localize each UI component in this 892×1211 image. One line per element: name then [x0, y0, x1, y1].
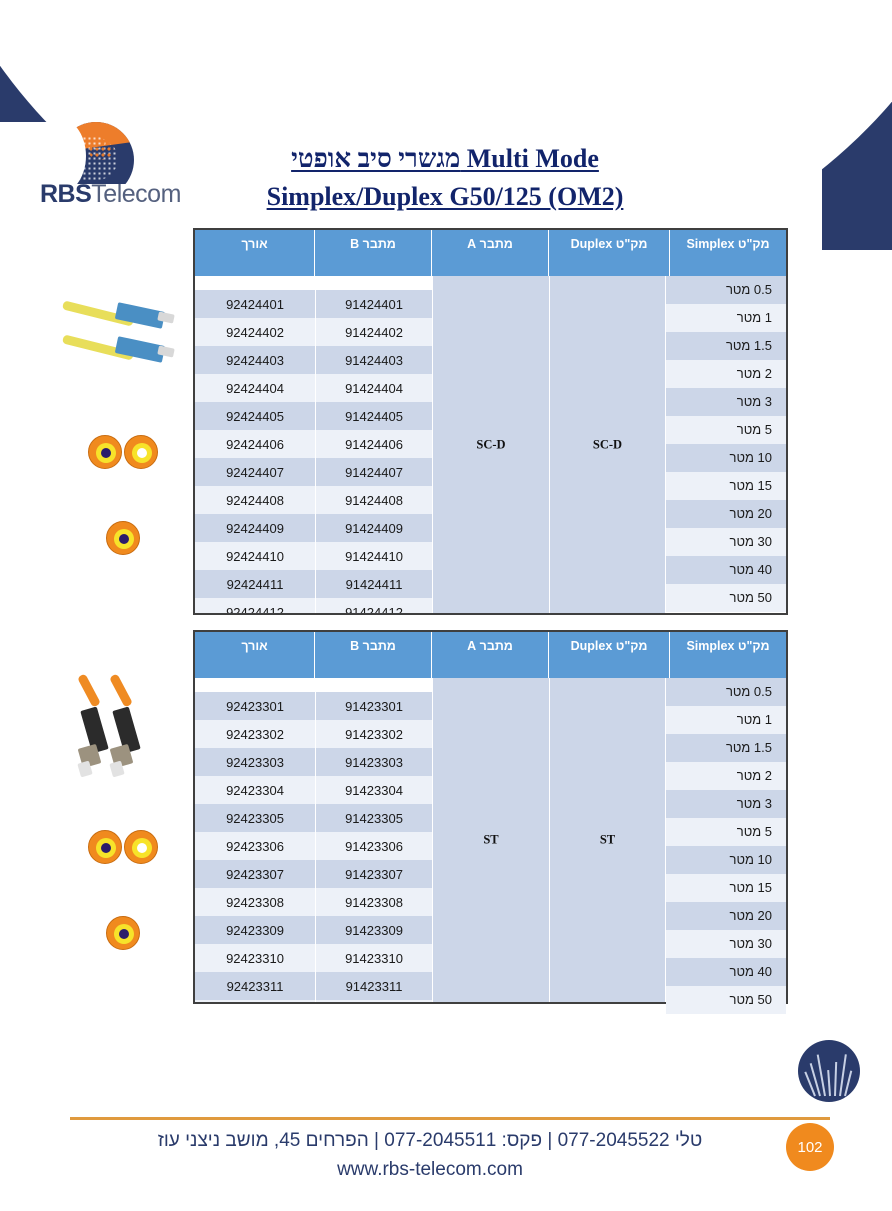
- product-photo-sc-duplex: [58, 295, 188, 555]
- table-row: 9242331291423312: [195, 1000, 432, 1002]
- length-cell: 1.5 מטר: [666, 734, 786, 762]
- logo-wordmark: RBSTelecom: [40, 180, 200, 209]
- simplex-part-number: 91423306: [316, 832, 432, 860]
- connector-a-value: ST: [433, 833, 549, 848]
- length-cell: 2 מטר: [666, 762, 786, 790]
- fiber-strands-icon: [798, 1040, 860, 1102]
- simplex-part-number: 91423311: [316, 972, 432, 1000]
- length-cell: 10 מטר: [666, 444, 786, 472]
- footer-contact-line: טלי 077-2045522 | פקס: 077-2045511 | הפר…: [40, 1126, 820, 1155]
- simplex-part-number: 91423301: [316, 692, 432, 720]
- simplex-part-number: 91424408: [316, 486, 432, 514]
- simplex-part-number: 91424409: [316, 514, 432, 542]
- duplex-part-number: 92424412: [195, 598, 316, 613]
- length-cell: 40 מטר: [666, 556, 786, 584]
- duplex-part-number: 92424403: [195, 346, 316, 374]
- length-cell: 3 מטר: [666, 790, 786, 818]
- length-cell: 2 מטר: [666, 360, 786, 388]
- length-cell: 50 מטר: [666, 986, 786, 1014]
- product-photo-st-duplex: [58, 690, 188, 950]
- duplex-part-number: 92424411: [195, 570, 316, 598]
- simplex-part-number: 91424404: [316, 374, 432, 402]
- length-cell: 0.5 מטר: [666, 276, 786, 304]
- simplex-part-number: 91423309: [316, 916, 432, 944]
- duplex-part-number: 92423302: [195, 720, 316, 748]
- length-cell: 3 מטר: [666, 388, 786, 416]
- length-column: 0.5 מטר1 מטר1.5 מטר2 מטר3 מטר5 מטר10 מטר…: [666, 678, 786, 1014]
- length-column: 0.5 מטר1 מטר1.5 מטר2 מטר3 מטר5 מטר10 מטר…: [666, 276, 786, 612]
- length-cell: 15 מטר: [666, 472, 786, 500]
- table-body: 0.5 מטר1 מטר1.5 מטר2 מטר3 מטר5 מטר10 מטר…: [195, 276, 786, 613]
- duplex-part-number: 92423306: [195, 832, 316, 860]
- connector-b-column: ST: [549, 678, 666, 1002]
- table-row: 9242440991424409: [195, 514, 432, 542]
- page-title-line2: Simplex/Duplex G50/125 (OM2): [230, 178, 660, 216]
- simplex-part-number: 91424402: [316, 318, 432, 346]
- part-number-columns: 9242440191424401924244029142440292424403…: [195, 276, 432, 613]
- simplex-part-number: 91424405: [316, 402, 432, 430]
- simplex-part-number: 91423308: [316, 888, 432, 916]
- column-header-connector-b: מתבר B: [315, 230, 432, 276]
- duplex-part-number: 92423304: [195, 776, 316, 804]
- column-header-connector-b: מתבר B: [315, 632, 432, 678]
- table-row: 9242330691423306: [195, 832, 432, 860]
- duplex-part-number: 92423308: [195, 888, 316, 916]
- duplex-part-number: 92423310: [195, 944, 316, 972]
- table-row: 9242440191424401: [195, 290, 432, 318]
- connector-a-column: ST: [432, 678, 549, 1002]
- length-cell: 20 מטר: [666, 500, 786, 528]
- length-cell: 40 מטר: [666, 958, 786, 986]
- duplex-part-number: 92424401: [195, 290, 316, 318]
- simplex-part-number: 91424412: [316, 598, 432, 613]
- column-header-simplex: מק"ט Simplex: [670, 230, 786, 276]
- connector-b-value: SC-D: [550, 437, 665, 452]
- table-row: 9242441091424410: [195, 542, 432, 570]
- footer-website[interactable]: www.rbs-telecom.com: [40, 1155, 820, 1184]
- column-header-length: אורך: [195, 230, 315, 276]
- length-cell: 30 מטר: [666, 528, 786, 556]
- table-row: 9242330291423302: [195, 720, 432, 748]
- duplex-part-number: 92423312: [195, 1000, 316, 1002]
- simplex-part-number: 91423302: [316, 720, 432, 748]
- duplex-part-number: 92424404: [195, 374, 316, 402]
- simplex-part-number: 91424411: [316, 570, 432, 598]
- length-cell: 15 מטר: [666, 874, 786, 902]
- table-row: 9242440891424408: [195, 486, 432, 514]
- table-row: 9242330391423303: [195, 748, 432, 776]
- logo-globe-icon: [58, 122, 134, 184]
- table-body: 0.5 מטר1 מטר1.5 מטר2 מטר3 מטר5 מטר10 מטר…: [195, 678, 786, 1002]
- table-header-row: אורךמתבר Bמתבר Aמק"ט Duplexמק"ט Simplex: [195, 632, 786, 678]
- length-cell: 1.5 מטר: [666, 332, 786, 360]
- page-title-line1: מגשרי סיב אופטי Multi Mode: [230, 140, 660, 178]
- company-logo: RBSTelecom: [40, 122, 200, 214]
- duplex-part-number: 92423303: [195, 748, 316, 776]
- footer-contact: טלי 077-2045522 | פקס: 077-2045511 | הפר…: [40, 1126, 820, 1184]
- connector-a-value: SC-D: [433, 437, 549, 452]
- column-header-duplex: מק"ט Duplex: [549, 632, 670, 678]
- connector-a-column: SC-D: [432, 276, 549, 613]
- table-header-row: אורךמתבר Bמתבר Aמק"ט Duplexמק"ט Simplex: [195, 230, 786, 276]
- footer-divider: [70, 1117, 830, 1120]
- table-row: 9242440391424403: [195, 346, 432, 374]
- table-row: 9242440291424402: [195, 318, 432, 346]
- length-cell: 50 מטר: [666, 584, 786, 612]
- table-row: 9242330791423307: [195, 860, 432, 888]
- duplex-part-number: 92424407: [195, 458, 316, 486]
- simplex-part-number: 91423304: [316, 776, 432, 804]
- duplex-part-number: 92423311: [195, 972, 316, 1000]
- duplex-part-number: 92424409: [195, 514, 316, 542]
- table-row: 9242440591424405: [195, 402, 432, 430]
- table-row: 9242330991423309: [195, 916, 432, 944]
- table-row: 9242330891423308: [195, 888, 432, 916]
- simplex-part-number: 91423307: [316, 860, 432, 888]
- logo-bold-text: RBS: [40, 180, 91, 208]
- table-row: 9242441291424412: [195, 598, 432, 613]
- st-simplex-ferrule-icon: [106, 916, 140, 950]
- part-number-columns: 9242330191423301924233029142330292423303…: [195, 678, 432, 1002]
- product-table-sc-d: אורךמתבר Bמתבר Aמק"ט Duplexמק"ט Simplex0…: [193, 228, 788, 615]
- logo-light-text: Telecom: [91, 180, 181, 208]
- length-cell: 5 מטר: [666, 818, 786, 846]
- length-cell: 30 מטר: [666, 930, 786, 958]
- sc-simplex-ferrule-icon: [106, 521, 140, 555]
- simplex-part-number: 91423303: [316, 748, 432, 776]
- column-header-duplex: מק"ט Duplex: [549, 230, 670, 276]
- duplex-part-number: 92424406: [195, 430, 316, 458]
- table-row: 9242331091423310: [195, 944, 432, 972]
- page-number-badge: 102: [786, 1123, 834, 1171]
- simplex-part-number: 91424401: [316, 290, 432, 318]
- column-header-connector-a: מתבר A: [432, 632, 549, 678]
- length-cell: 20 מטר: [666, 902, 786, 930]
- length-cell: 1 מטר: [666, 304, 786, 332]
- table-row: 9242331191423311: [195, 972, 432, 1000]
- simplex-part-number: 91424403: [316, 346, 432, 374]
- table-row: 9242441191424411: [195, 570, 432, 598]
- table-row: 9242330591423305: [195, 804, 432, 832]
- column-header-simplex: מק"ט Simplex: [670, 632, 786, 678]
- page-title: מגשרי סיב אופטי Multi Mode Simplex/Duple…: [230, 140, 660, 216]
- column-header-length: אורך: [195, 632, 315, 678]
- table-row: 9242440491424404: [195, 374, 432, 402]
- simplex-part-number: 91424407: [316, 458, 432, 486]
- duplex-part-number: 92424410: [195, 542, 316, 570]
- simplex-part-number: 91424406: [316, 430, 432, 458]
- product-table-st: אורךמתבר Bמתבר Aמק"ט Duplexמק"ט Simplex0…: [193, 630, 788, 1004]
- length-cell: 1 מטר: [666, 706, 786, 734]
- simplex-part-number: 91423310: [316, 944, 432, 972]
- connector-b-column: SC-D: [549, 276, 666, 613]
- duplex-part-number: 92424405: [195, 402, 316, 430]
- length-cell: 0.5 מטר: [666, 678, 786, 706]
- duplex-part-number: 92423307: [195, 860, 316, 888]
- table-row: 9242330491423304: [195, 776, 432, 804]
- st-duplex-ferrule-icon: [88, 830, 158, 864]
- st-cable-image: [58, 690, 186, 780]
- connector-b-value: ST: [550, 833, 665, 848]
- table-row: 9242330191423301: [195, 692, 432, 720]
- duplex-part-number: 92424408: [195, 486, 316, 514]
- sc-cable-image: [58, 295, 186, 385]
- simplex-part-number: 91423312: [316, 1000, 432, 1002]
- column-header-connector-a: מתבר A: [432, 230, 549, 276]
- table-row: 9242440691424406: [195, 430, 432, 458]
- sc-duplex-ferrule-icon: [88, 435, 158, 469]
- length-cell: 10 מטר: [666, 846, 786, 874]
- simplex-part-number: 91424410: [316, 542, 432, 570]
- simplex-part-number: 91423305: [316, 804, 432, 832]
- duplex-part-number: 92423309: [195, 916, 316, 944]
- duplex-part-number: 92423301: [195, 692, 316, 720]
- duplex-part-number: 92423305: [195, 804, 316, 832]
- table-row: 9242440791424407: [195, 458, 432, 486]
- length-cell: 5 מטר: [666, 416, 786, 444]
- duplex-part-number: 92424402: [195, 318, 316, 346]
